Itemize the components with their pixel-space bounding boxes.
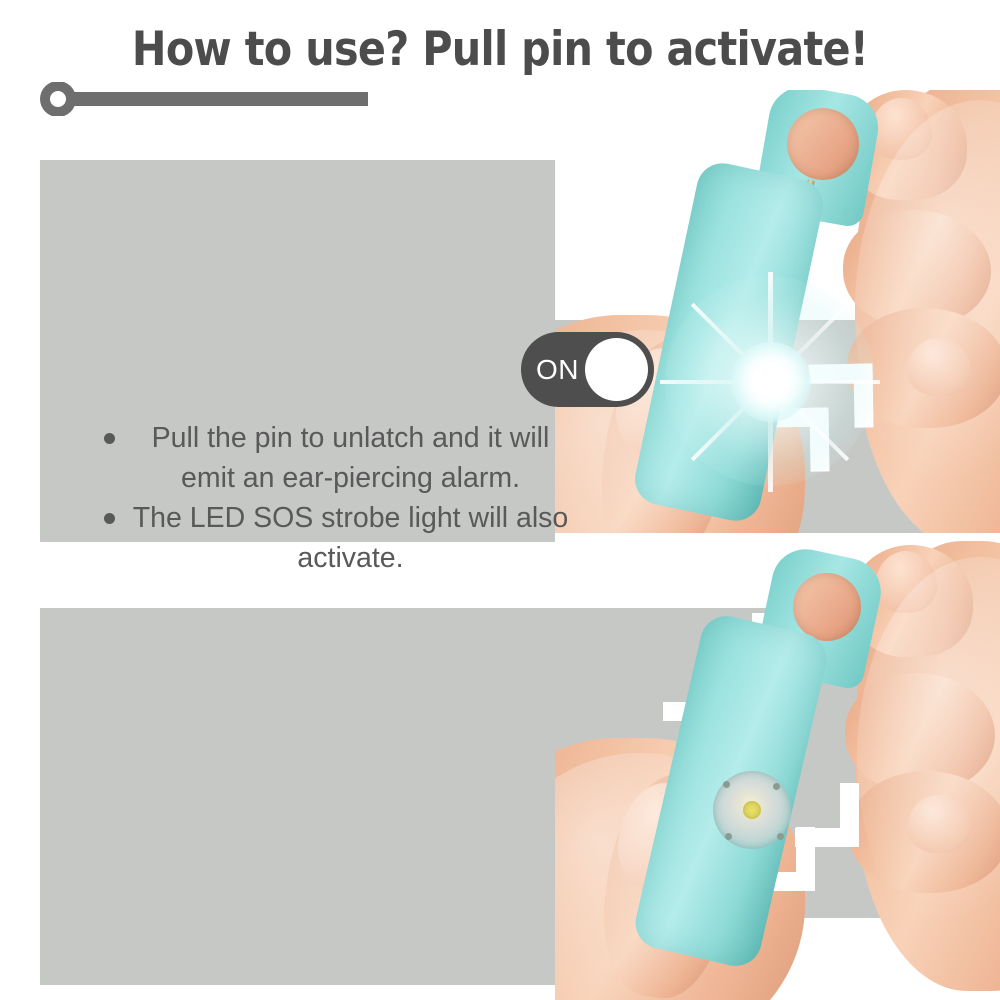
device-keyring-hole: [787, 108, 859, 180]
product-photo-deactivate: [555, 533, 1000, 1000]
led-strobe-light-on: [731, 342, 811, 422]
panel-activate: ON Pull the pin to unlatch and it will e…: [40, 160, 1000, 542]
bullet-text: The LED SOS strobe light will also activ…: [132, 498, 569, 578]
bullet-dot-icon: [104, 433, 115, 444]
panel-deactivate: OFF To deactivate, simply put the pin ba…: [40, 608, 1000, 985]
list-item: The LED SOS strobe light will also activ…: [80, 498, 575, 578]
bullet-text: Pull the pin to unlatch and it will emit…: [132, 418, 569, 498]
page-title: How to use? Pull pin to activate!: [60, 22, 940, 77]
led-screw: [723, 781, 730, 788]
led-bulb: [743, 801, 761, 819]
pin-nub-right: [843, 208, 854, 219]
led-screw: [725, 833, 732, 840]
bullet-list-activate: Pull the pin to unlatch and it will emit…: [80, 418, 575, 578]
toggle-on-knob[interactable]: [585, 338, 648, 401]
device-keyring-hole: [793, 573, 861, 641]
pull-pin-ring-icon: [38, 82, 368, 116]
bullet-dot-icon: [104, 513, 115, 524]
infographic-page: How to use? Pull pin to activate!: [0, 0, 1000, 1000]
toggle-on-label: ON: [536, 354, 579, 386]
led-screw: [773, 783, 780, 790]
toggle-switch-on[interactable]: ON: [521, 332, 654, 407]
led-screw: [777, 833, 784, 840]
list-item: Pull the pin to unlatch and it will emit…: [80, 418, 575, 498]
